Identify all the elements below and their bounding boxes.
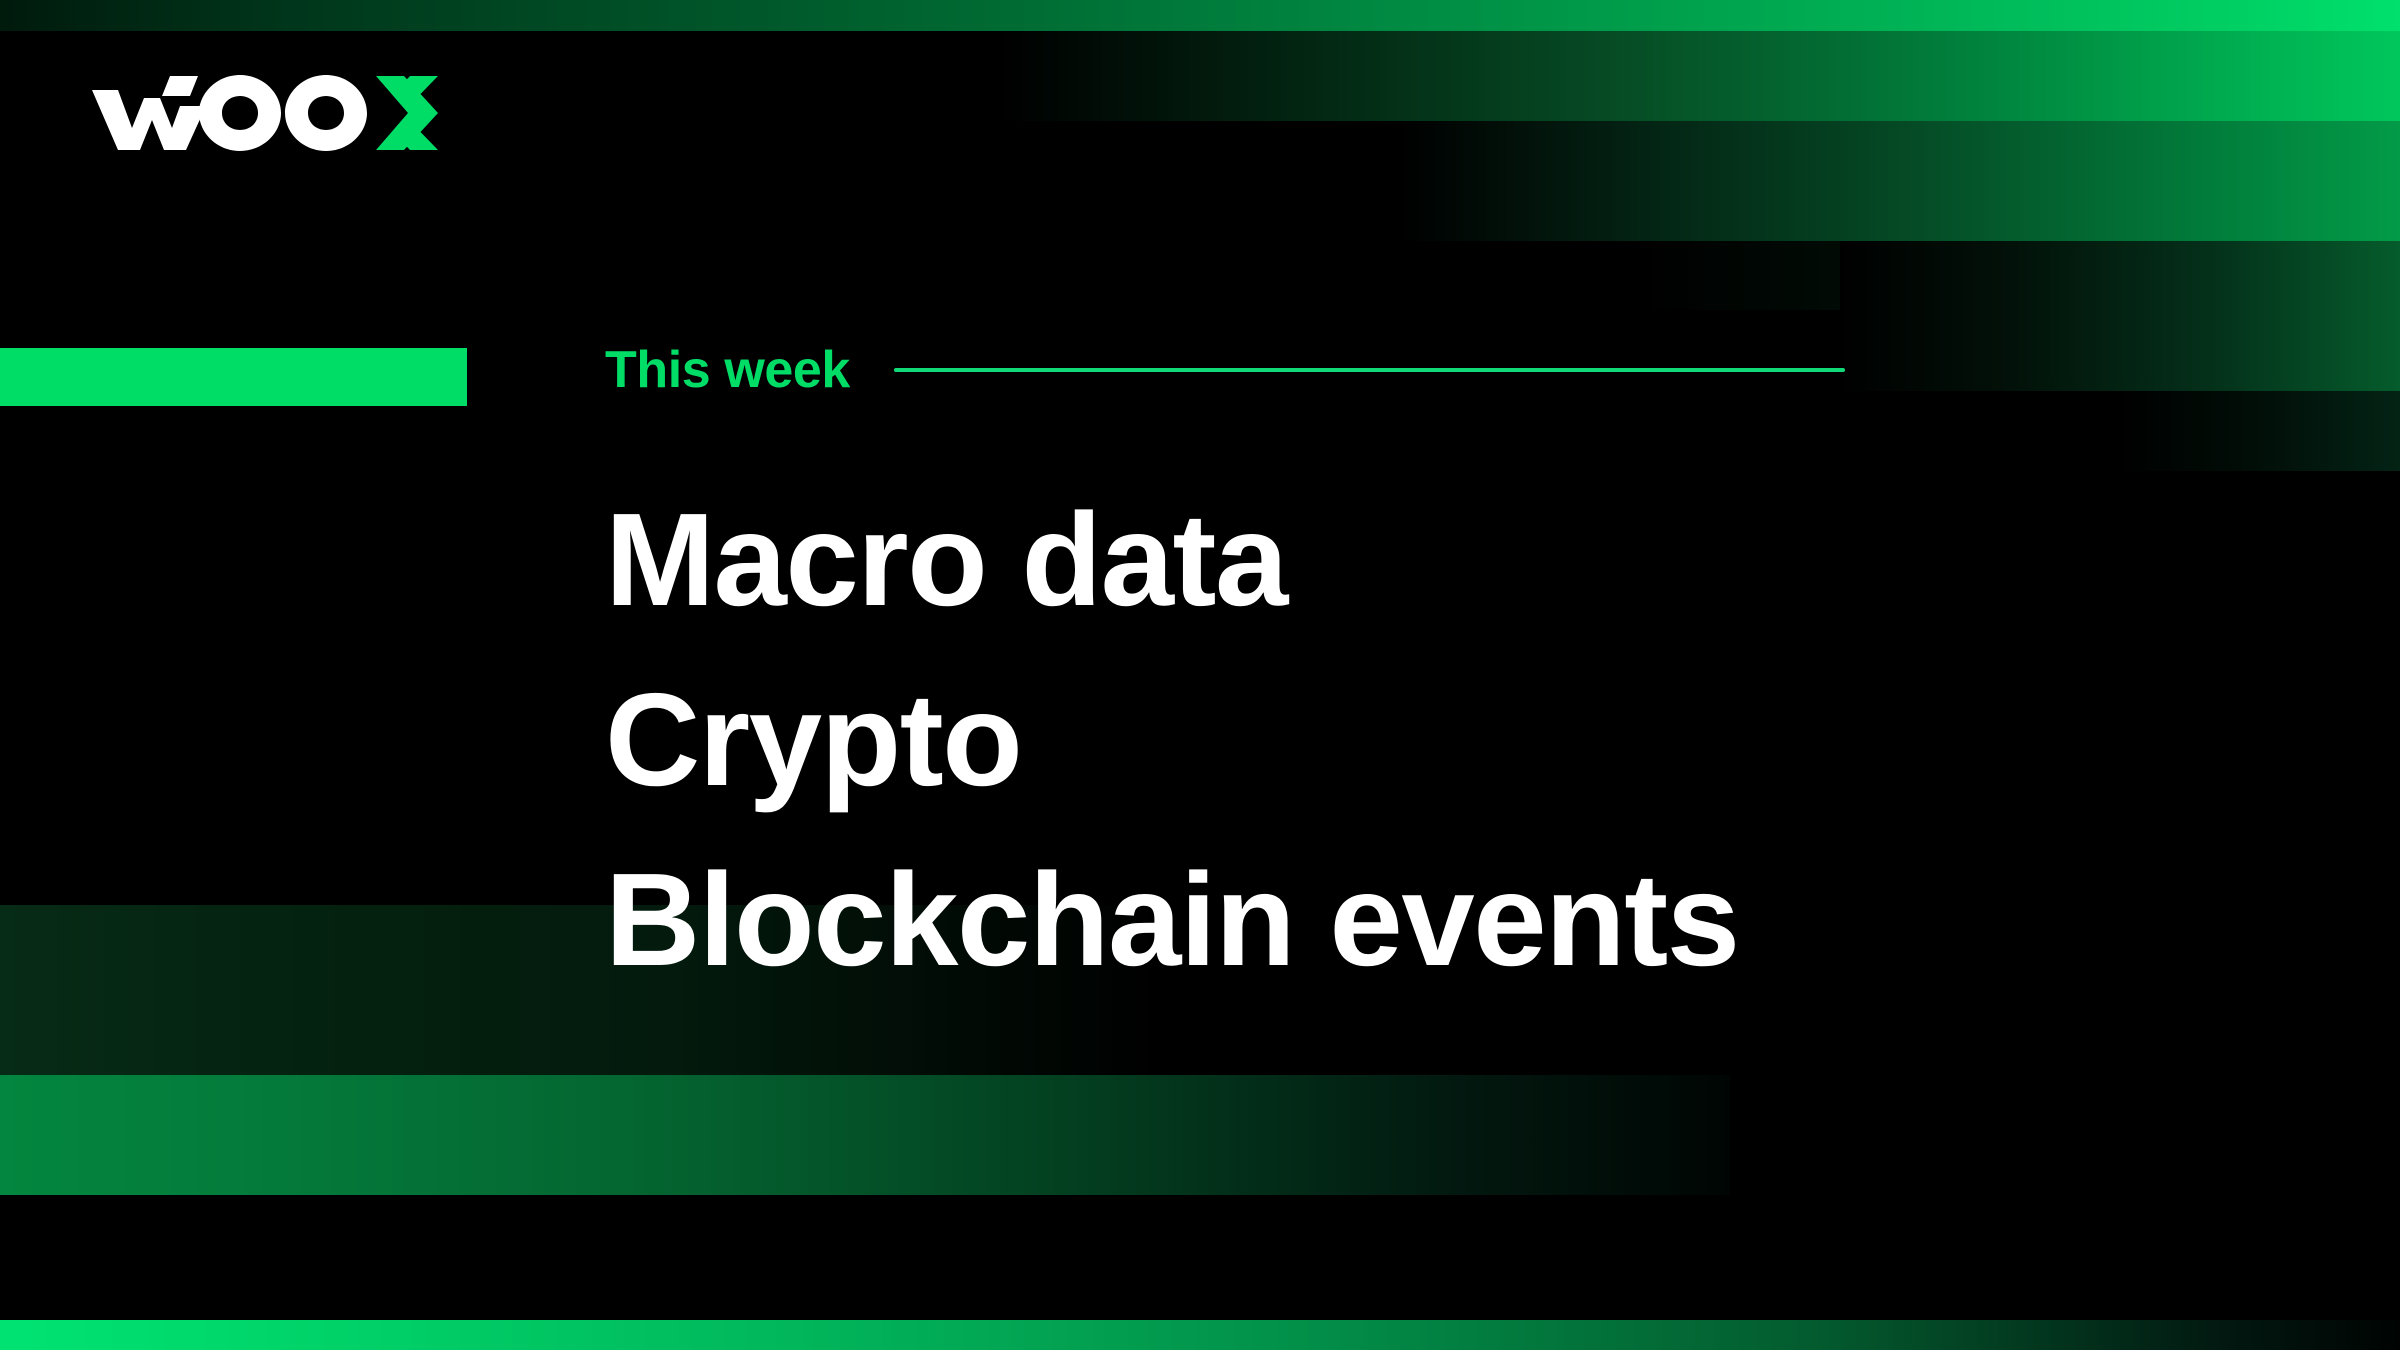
- headline-line-2: Crypto: [605, 650, 2305, 830]
- headline: Macro data Crypto Blockchain events: [605, 470, 2305, 1010]
- promo-banner: This week Macro data Crypto Blockchain e…: [0, 0, 2400, 1350]
- eyebrow-label: This week: [605, 344, 850, 396]
- background-band-bottom-3: [0, 1195, 2300, 1320]
- eyebrow: This week: [605, 330, 1845, 410]
- eyebrow-rule: [894, 368, 1845, 372]
- headline-line-1: Macro data: [605, 470, 2305, 650]
- background-band-top-5: [2120, 391, 2400, 471]
- background-band-top-3: [1400, 121, 2400, 241]
- background-band-bottom-2: [0, 1075, 1730, 1195]
- woox-logo[interactable]: [88, 72, 438, 152]
- accent-bar: [0, 348, 467, 406]
- background-band-top-1: [0, 0, 2400, 31]
- headline-line-3: Blockchain events: [605, 830, 2305, 1010]
- woox-logo-icon: [88, 72, 438, 152]
- background-band-top-2: [1000, 31, 2400, 121]
- background-band-top-4: [1840, 241, 2400, 391]
- background-band-bottom-4: [0, 1320, 2400, 1350]
